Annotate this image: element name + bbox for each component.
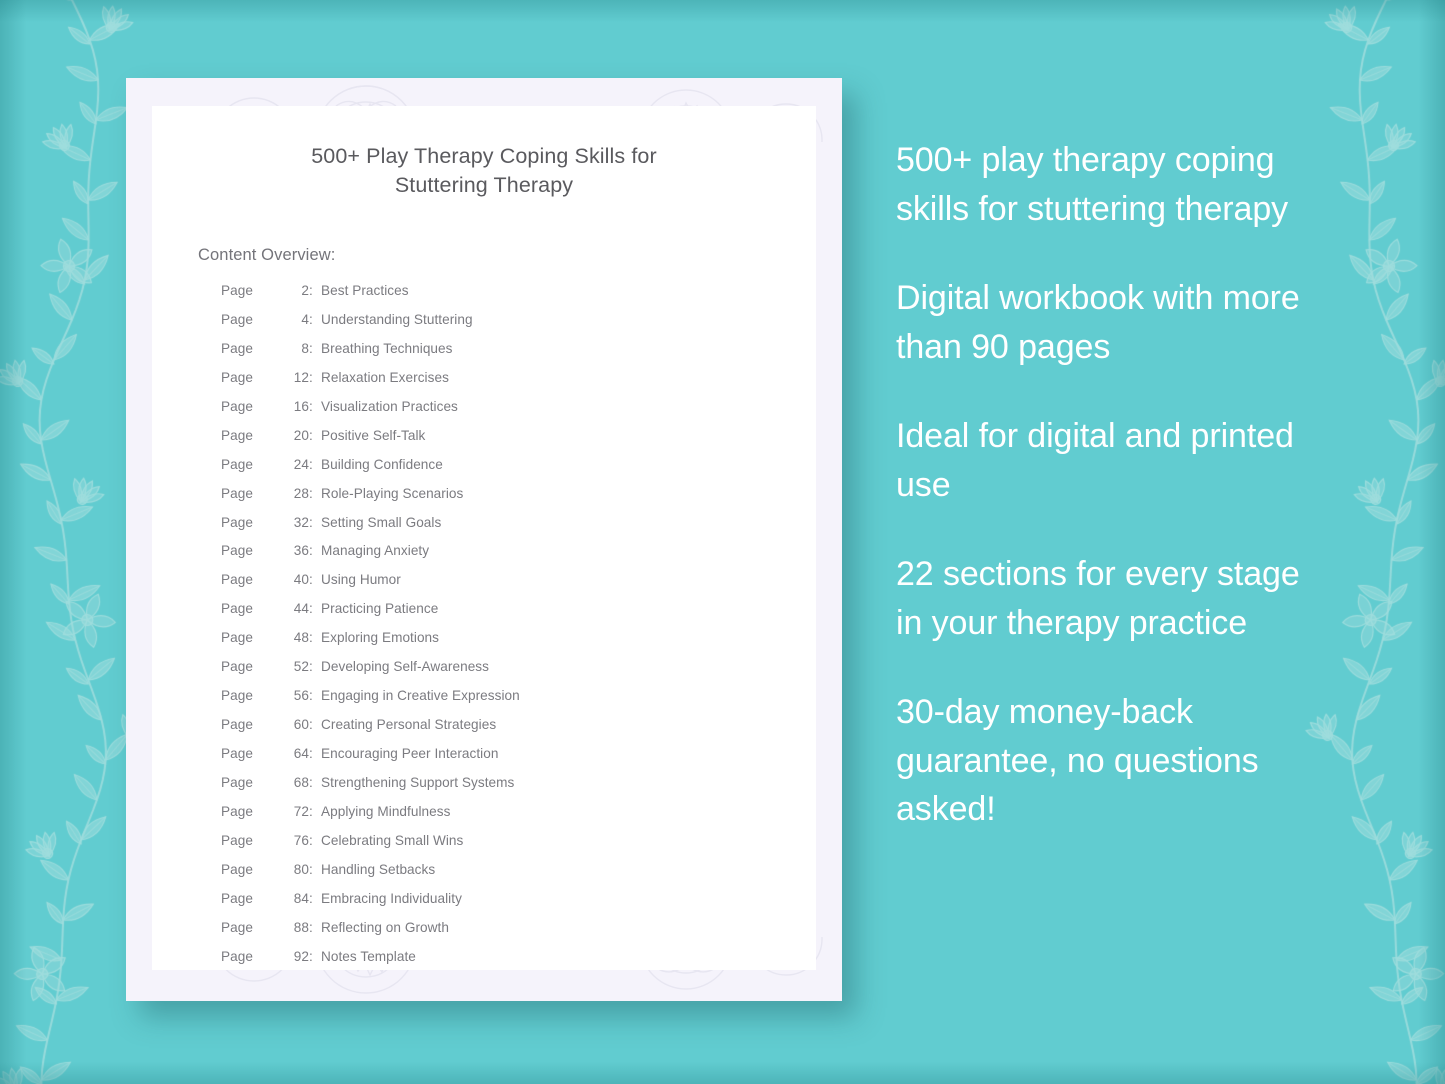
toc-section-title: Managing Anxiety: [321, 543, 429, 558]
toc-section-title: Building Confidence: [321, 457, 443, 472]
toc-section-title: Using Humor: [321, 572, 401, 587]
toc-page-word: Page: [221, 804, 283, 819]
marketing-bullet-list: 500+ play therapy coping skills for stut…: [896, 136, 1326, 834]
toc-section-title: Engaging in Creative Expression: [321, 688, 520, 703]
toc-section-title: Embracing Individuality: [321, 891, 462, 906]
toc-page-word: Page: [221, 457, 283, 472]
toc-section-title: Breathing Techniques: [321, 341, 453, 356]
table-of-contents: Page2:Best PracticesPage4:Understanding …: [221, 283, 801, 978]
toc-section-title: Best Practices: [321, 283, 409, 298]
toc-page-number: 60: [283, 717, 309, 732]
toc-page-number: 52: [283, 659, 309, 674]
toc-page-number: 68: [283, 775, 309, 790]
toc-row: Page56:Engaging in Creative Expression: [221, 688, 801, 717]
toc-section-title: Handling Setbacks: [321, 862, 435, 877]
toc-section-title: Strengthening Support Systems: [321, 775, 514, 790]
toc-row: Page68:Strengthening Support Systems: [221, 775, 801, 804]
toc-row: Page4:Understanding Stuttering: [221, 312, 801, 341]
marketing-bullet: 22 sections for every stage in your ther…: [896, 550, 1326, 647]
toc-page-number: 12: [283, 370, 309, 385]
toc-separator: :: [309, 891, 321, 906]
toc-row: Page48:Exploring Emotions: [221, 630, 801, 659]
toc-section-title: Encouraging Peer Interaction: [321, 746, 498, 761]
toc-row: Page2:Best Practices: [221, 283, 801, 312]
toc-row: Page92:Notes Template: [221, 949, 801, 978]
marketing-bullet: Digital workbook with more than 90 pages: [896, 274, 1326, 371]
toc-section-title: Developing Self-Awareness: [321, 659, 489, 674]
toc-row: Page40:Using Humor: [221, 572, 801, 601]
toc-page-word: Page: [221, 399, 283, 414]
toc-page-word: Page: [221, 601, 283, 616]
toc-row: Page24:Building Confidence: [221, 457, 801, 486]
toc-page-number: 20: [283, 428, 309, 443]
toc-page-word: Page: [221, 775, 283, 790]
toc-page-word: Page: [221, 659, 283, 674]
toc-page-word: Page: [221, 543, 283, 558]
toc-page-word: Page: [221, 428, 283, 443]
page-title: 500+ Play Therapy Coping Skills for Stut…: [152, 142, 816, 200]
toc-page-number: 76: [283, 833, 309, 848]
toc-row: Page64:Encouraging Peer Interaction: [221, 746, 801, 775]
toc-separator: :: [309, 543, 321, 558]
toc-section-title: Setting Small Goals: [321, 515, 441, 530]
toc-section-title: Creating Personal Strategies: [321, 717, 496, 732]
toc-separator: :: [309, 312, 321, 327]
toc-row: Page36:Managing Anxiety: [221, 543, 801, 572]
toc-row: Page20:Positive Self-Talk: [221, 428, 801, 457]
toc-row: Page12:Relaxation Exercises: [221, 370, 801, 399]
toc-section-title: Applying Mindfulness: [321, 804, 450, 819]
marketing-bullet: 500+ play therapy coping skills for stut…: [896, 136, 1326, 233]
toc-page-number: 32: [283, 515, 309, 530]
toc-row: Page72:Applying Mindfulness: [221, 804, 801, 833]
toc-page-word: Page: [221, 920, 283, 935]
toc-separator: :: [309, 630, 321, 645]
toc-separator: :: [309, 428, 321, 443]
toc-page-number: 40: [283, 572, 309, 587]
toc-section-title: Notes Template: [321, 949, 416, 964]
toc-page-number: 80: [283, 862, 309, 877]
toc-page-number: 8: [283, 341, 309, 356]
toc-row: Page76:Celebrating Small Wins: [221, 833, 801, 862]
toc-page-number: 28: [283, 486, 309, 501]
toc-page-word: Page: [221, 833, 283, 848]
toc-page-number: 92: [283, 949, 309, 964]
toc-page-number: 56: [283, 688, 309, 703]
marketing-bullet: 30-day money-back guarantee, no question…: [896, 688, 1326, 834]
toc-page-number: 88: [283, 920, 309, 935]
toc-separator: :: [309, 601, 321, 616]
workbook-page: 500+ Play Therapy Coping Skills for Stut…: [152, 106, 816, 970]
toc-row: Page84:Embracing Individuality: [221, 891, 801, 920]
toc-page-number: 24: [283, 457, 309, 472]
toc-page-word: Page: [221, 486, 283, 501]
toc-row: Page28:Role-Playing Scenarios: [221, 486, 801, 515]
toc-separator: :: [309, 659, 321, 674]
toc-row: Page8:Breathing Techniques: [221, 341, 801, 370]
toc-separator: :: [309, 746, 321, 761]
toc-page-word: Page: [221, 572, 283, 587]
toc-section-title: Practicing Patience: [321, 601, 438, 616]
workbook-preview-card: 500+ Play Therapy Coping Skills for Stut…: [126, 78, 842, 1001]
toc-separator: :: [309, 833, 321, 848]
toc-page-word: Page: [221, 312, 283, 327]
toc-separator: :: [309, 862, 321, 877]
toc-separator: :: [309, 515, 321, 530]
toc-separator: :: [309, 688, 321, 703]
toc-separator: :: [309, 949, 321, 964]
toc-separator: :: [309, 341, 321, 356]
toc-page-number: 44: [283, 601, 309, 616]
toc-row: Page52:Developing Self-Awareness: [221, 659, 801, 688]
toc-section-title: Exploring Emotions: [321, 630, 439, 645]
toc-page-number: 16: [283, 399, 309, 414]
toc-separator: :: [309, 283, 321, 298]
toc-section-title: Celebrating Small Wins: [321, 833, 463, 848]
toc-section-title: Visualization Practices: [321, 399, 458, 414]
toc-page-word: Page: [221, 283, 283, 298]
toc-separator: :: [309, 457, 321, 472]
toc-page-word: Page: [221, 630, 283, 645]
toc-page-number: 48: [283, 630, 309, 645]
toc-section-title: Relaxation Exercises: [321, 370, 449, 385]
toc-row: Page88:Reflecting on Growth: [221, 920, 801, 949]
toc-page-word: Page: [221, 862, 283, 877]
toc-row: Page16:Visualization Practices: [221, 399, 801, 428]
toc-separator: :: [309, 399, 321, 414]
toc-section-title: Positive Self-Talk: [321, 428, 425, 443]
marketing-bullet: Ideal for digital and printed use: [896, 412, 1326, 509]
toc-separator: :: [309, 920, 321, 935]
toc-separator: :: [309, 775, 321, 790]
toc-section-title: Reflecting on Growth: [321, 920, 449, 935]
toc-page-number: 84: [283, 891, 309, 906]
toc-page-number: 64: [283, 746, 309, 761]
toc-page-number: 36: [283, 543, 309, 558]
toc-row: Page32:Setting Small Goals: [221, 515, 801, 544]
toc-page-number: 72: [283, 804, 309, 819]
toc-separator: :: [309, 572, 321, 587]
toc-row: Page60:Creating Personal Strategies: [221, 717, 801, 746]
toc-page-word: Page: [221, 949, 283, 964]
toc-separator: :: [309, 717, 321, 732]
toc-separator: :: [309, 486, 321, 501]
toc-row: Page44:Practicing Patience: [221, 601, 801, 630]
toc-section-title: Understanding Stuttering: [321, 312, 473, 327]
toc-page-word: Page: [221, 370, 283, 385]
toc-row: Page80:Handling Setbacks: [221, 862, 801, 891]
toc-page-word: Page: [221, 717, 283, 732]
toc-page-number: 4: [283, 312, 309, 327]
toc-page-word: Page: [221, 891, 283, 906]
toc-section-title: Role-Playing Scenarios: [321, 486, 463, 501]
toc-page-word: Page: [221, 746, 283, 761]
toc-separator: :: [309, 804, 321, 819]
toc-page-word: Page: [221, 688, 283, 703]
content-overview-label: Content Overview:: [198, 246, 335, 265]
toc-page-word: Page: [221, 341, 283, 356]
toc-page-word: Page: [221, 515, 283, 530]
toc-separator: :: [309, 370, 321, 385]
toc-page-number: 2: [283, 283, 309, 298]
